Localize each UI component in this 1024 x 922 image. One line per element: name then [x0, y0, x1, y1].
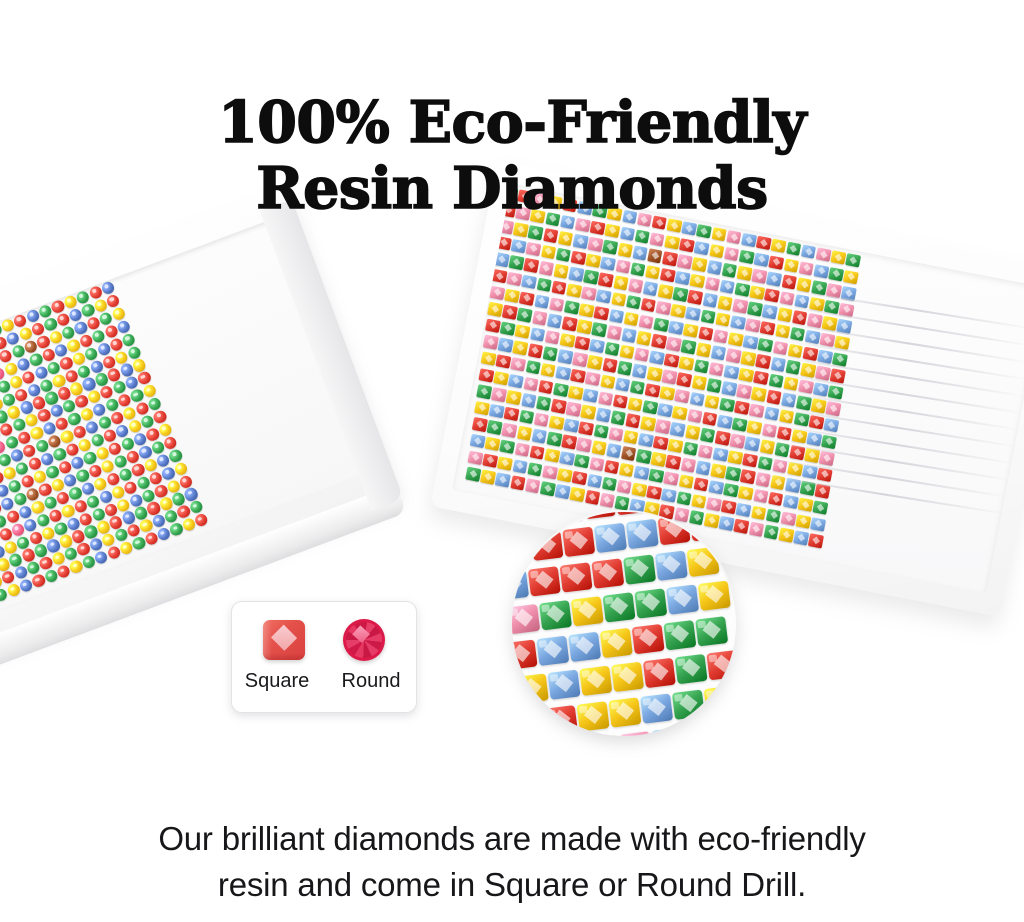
square-drill-bead	[751, 387, 767, 402]
magnified-square-drill	[512, 604, 540, 634]
square-drill-bead	[487, 420, 503, 435]
square-drill-bead	[771, 239, 787, 254]
square-drill-bead	[504, 288, 520, 303]
square-drill-bead	[540, 481, 556, 496]
square-drill-bead	[557, 468, 573, 483]
square-drill-bead	[521, 393, 537, 408]
magnified-square-drill	[634, 588, 667, 618]
square-drill-bead	[730, 434, 746, 449]
square-drill-bead	[589, 457, 605, 472]
square-drill-bead	[485, 318, 501, 333]
legend-label-square: Square	[241, 670, 313, 693]
square-drill-bead	[563, 418, 579, 433]
square-drill-bead	[585, 490, 601, 505]
square-drill-bead	[631, 482, 647, 497]
square-drill-bead	[621, 328, 637, 343]
square-drill-bead	[510, 357, 526, 372]
square-drill-bead	[562, 316, 578, 331]
square-drill-bead	[762, 305, 778, 320]
square-drill-bead	[574, 336, 590, 351]
square-drill-bead	[666, 455, 682, 470]
square-drill-icon	[263, 620, 305, 660]
square-drill-bead	[617, 243, 633, 258]
magnified-square-drill	[519, 512, 552, 527]
square-drill-bead	[741, 351, 757, 366]
square-drill-bead	[645, 265, 661, 280]
square-drill-bead	[715, 431, 731, 446]
square-drill-bead	[677, 254, 693, 269]
tray-groove	[784, 323, 1024, 364]
square-drill-bead	[617, 361, 633, 376]
square-drill-bead	[536, 396, 552, 411]
square-drill-bead	[590, 220, 606, 235]
legend-label-round: Round	[335, 670, 407, 693]
square-drill-bead	[727, 450, 743, 465]
square-drill-bead	[534, 294, 550, 309]
square-drill-bead	[636, 449, 652, 464]
square-drill-bead	[659, 386, 675, 401]
magnified-square-drill	[551, 512, 584, 523]
square-drill-bead	[568, 267, 584, 282]
magnified-square-drill	[583, 512, 616, 519]
square-drill-bead	[615, 259, 631, 274]
square-drill-bead	[642, 400, 658, 415]
square-drill-bead	[745, 318, 761, 333]
square-drill-bead	[568, 385, 584, 400]
square-drill-bead	[506, 390, 522, 405]
square-drill-bead	[672, 405, 688, 420]
square-drill-bead	[570, 250, 586, 265]
tray-groove	[779, 356, 1024, 397]
square-drill-bead	[719, 279, 735, 294]
magnified-square-drill	[640, 693, 673, 723]
square-drill-bead	[625, 413, 641, 428]
square-drill-bead	[541, 245, 557, 260]
square-drill-bead	[591, 322, 607, 337]
square-drill-bead	[636, 331, 652, 346]
square-drill-bead	[489, 404, 505, 419]
square-drill-bead	[723, 483, 739, 498]
square-drill-bead	[512, 459, 528, 474]
square-drill-bead	[513, 222, 529, 237]
magnified-square-drill	[655, 551, 688, 581]
page-title: 100% Eco-Friendly Resin Diamonds	[0, 90, 1024, 222]
square-drill-bead	[499, 440, 515, 455]
square-drill-bead	[526, 242, 542, 257]
square-drill-bead	[502, 423, 518, 438]
square-drill-bead	[641, 298, 657, 313]
magnified-square-drill	[548, 669, 581, 699]
square-drill-bead	[655, 301, 671, 316]
magnified-square-drill	[683, 723, 716, 736]
square-drill-bead	[691, 494, 707, 509]
tray-groove	[773, 390, 1020, 431]
square-drill-bead	[640, 416, 656, 431]
square-drill-bead	[553, 264, 569, 279]
magnified-square-drill	[666, 584, 699, 614]
square-drill-bead	[681, 340, 697, 355]
square-drill-bead	[628, 278, 644, 293]
square-drill-bead	[604, 342, 620, 357]
square-drill-bead	[698, 326, 714, 341]
square-drill-bead	[738, 486, 754, 501]
square-drill-bead	[587, 237, 603, 252]
square-drill-bead	[660, 268, 676, 283]
magnified-square-drill	[706, 650, 736, 680]
square-drill-bead	[591, 440, 607, 455]
square-drill-bead	[614, 496, 630, 511]
square-drill-bead	[572, 471, 588, 486]
square-drill-bead	[482, 453, 498, 468]
square-drill-bead	[476, 384, 492, 399]
square-drill-bead	[734, 401, 750, 416]
square-drill-bead	[521, 275, 537, 290]
square-drill-bead	[801, 244, 817, 259]
square-drill-bead	[498, 338, 514, 353]
square-drill-bead	[786, 242, 802, 257]
square-drill-bead	[600, 375, 616, 390]
tray-groove	[763, 457, 1010, 498]
square-drill-bead	[687, 408, 703, 423]
square-drill-bead	[545, 330, 561, 345]
square-drill-bead	[549, 297, 565, 312]
square-drill-bead	[587, 473, 603, 488]
tray-groove	[765, 440, 1012, 481]
square-drill-bead	[749, 403, 765, 418]
square-drill-bead	[630, 262, 646, 277]
square-drill-bead	[845, 253, 861, 268]
square-drill-bead	[585, 372, 601, 387]
square-drill-bead	[664, 235, 680, 250]
magnified-square-drill	[695, 616, 728, 646]
square-drill-bead	[670, 422, 686, 437]
magnified-square-drill	[615, 512, 648, 515]
square-drill-bead	[666, 337, 682, 352]
square-drill-bead	[551, 280, 567, 295]
square-drill-bead	[619, 344, 635, 359]
square-drill-bead	[730, 315, 746, 330]
square-drill-bead	[513, 341, 529, 356]
square-drill-bead	[627, 397, 643, 412]
magnified-detail-circle	[512, 512, 736, 736]
square-drill-bead	[587, 355, 603, 370]
round-drill-icon	[343, 619, 385, 661]
square-drill-bead	[576, 438, 592, 453]
square-drill-bead	[514, 442, 530, 457]
square-drill-bead	[519, 409, 535, 424]
square-drill-bead	[495, 473, 511, 488]
square-drill-bead	[705, 276, 721, 291]
square-drill-bead	[724, 246, 740, 261]
magnified-square-drill	[588, 735, 621, 736]
square-drill-bead	[736, 502, 752, 517]
square-drill-bead	[536, 278, 552, 293]
square-drill-bead	[632, 246, 648, 261]
magnified-square-drill	[715, 719, 736, 736]
square-drill-bead	[739, 249, 755, 264]
square-drill-bead	[732, 417, 748, 432]
square-drill-bead	[690, 274, 706, 289]
square-drill-bead	[523, 376, 539, 391]
magnified-square-drill	[560, 562, 593, 592]
square-drill-bead	[598, 391, 614, 406]
square-drill-bead	[747, 302, 763, 317]
square-drill-bead	[755, 354, 771, 369]
square-drill-bead	[555, 366, 571, 381]
square-drill-bead	[653, 317, 669, 332]
square-drill-bead	[675, 271, 691, 286]
square-drill-bead	[559, 333, 575, 348]
square-drill-bead	[664, 353, 680, 368]
magnified-square-drill	[571, 596, 604, 626]
square-drill-bead	[465, 467, 481, 482]
tray-groove	[771, 407, 1018, 448]
square-drill-bead	[657, 403, 673, 418]
square-drill-bead	[638, 314, 654, 329]
square-drill-bead	[700, 309, 716, 324]
square-drill-bead	[732, 299, 748, 314]
square-drill-bead	[595, 407, 611, 422]
square-drill-bead	[734, 282, 750, 297]
square-drill-bead	[489, 285, 505, 300]
square-drill-bead	[662, 251, 678, 266]
square-drill-bead	[525, 360, 541, 375]
square-drill-bead	[696, 224, 712, 239]
headline-line-1: 100% Eco-Friendly	[218, 89, 806, 156]
square-drill-bead	[668, 320, 684, 335]
square-drill-bead	[706, 378, 722, 393]
square-drill-bead	[798, 261, 814, 276]
square-drill-bead	[546, 432, 562, 447]
square-drill-bead	[531, 429, 547, 444]
square-drill-bead	[540, 363, 556, 378]
square-drill-bead	[668, 438, 684, 453]
square-drill-bead	[604, 460, 620, 475]
magnified-square-drill	[651, 727, 684, 736]
magnified-square-drill	[687, 547, 720, 577]
square-drill-bead	[745, 436, 761, 451]
square-drill-bead	[740, 469, 756, 484]
magnified-square-drill	[512, 512, 521, 531]
square-drill-bead	[658, 284, 674, 299]
square-drill-bead	[758, 338, 774, 353]
square-drill-bead	[599, 493, 615, 508]
square-drill-bead	[634, 229, 650, 244]
square-drill-bead	[543, 228, 559, 243]
square-drill-bead	[632, 364, 648, 379]
round-drill-bead	[194, 512, 210, 528]
square-drill-bead	[662, 370, 678, 385]
square-drill-bead	[555, 484, 571, 499]
square-drill-bead	[689, 392, 705, 407]
square-drill-bead	[515, 324, 531, 339]
square-drill-bead	[495, 354, 511, 369]
magnified-square-drill	[545, 705, 578, 735]
square-drill-bead	[700, 428, 716, 443]
square-drill-bead	[623, 430, 639, 445]
square-drill-bead	[577, 319, 593, 334]
caption-line-1: Our brilliant diamonds are made with eco…	[158, 820, 865, 857]
square-drill-bead	[719, 398, 735, 413]
square-drill-bead	[608, 427, 624, 442]
square-drill-bead	[695, 461, 711, 476]
square-drill-bead	[647, 367, 663, 382]
tray-groove	[768, 423, 1015, 464]
square-drill-bead	[561, 435, 577, 450]
square-drill-bead	[497, 456, 513, 471]
square-drill-bead	[510, 475, 526, 490]
square-drill-bead	[517, 308, 533, 323]
square-drill-bead	[713, 447, 729, 462]
square-drill-bead	[649, 469, 665, 484]
magnified-square-drill	[626, 519, 659, 549]
square-drill-bead	[609, 309, 625, 324]
magnified-square-drill	[672, 689, 705, 719]
square-drill-bead	[596, 289, 612, 304]
square-drill-bead	[602, 358, 618, 373]
square-drill-bead	[679, 356, 695, 371]
square-drill-bead	[673, 287, 689, 302]
square-drill-bead	[619, 463, 635, 478]
square-drill-bead	[626, 295, 642, 310]
square-drill-bead	[741, 233, 757, 248]
square-drill-bead	[555, 248, 571, 263]
square-drill-bead	[547, 313, 563, 328]
square-drill-bead	[726, 348, 742, 363]
magnified-square-drill	[600, 628, 633, 658]
square-drill-bead	[620, 226, 636, 241]
square-drill-bead	[728, 332, 744, 347]
square-drill-bead	[708, 480, 724, 495]
square-drill-bead	[474, 401, 490, 416]
square-drill-bead	[638, 433, 654, 448]
square-drill-bead	[602, 240, 618, 255]
square-drill-bead	[496, 236, 512, 251]
square-drill-bead	[483, 335, 499, 350]
square-drill-bead	[677, 373, 693, 388]
magnified-square-drill	[530, 531, 563, 561]
magnified-square-drill	[620, 731, 653, 736]
square-drill-bead	[621, 446, 637, 461]
square-drill-bead	[676, 491, 692, 506]
square-drill-bead	[709, 362, 725, 377]
square-drill-bead	[553, 382, 569, 397]
square-drill-bead	[532, 311, 548, 326]
square-drill-bead	[725, 467, 741, 482]
square-drill-bead	[717, 296, 733, 311]
square-drill-bead	[726, 230, 742, 245]
square-drill-bead	[756, 236, 772, 251]
square-drill-bead	[696, 342, 712, 357]
square-drill-bead	[523, 258, 539, 273]
square-drill-bead	[711, 345, 727, 360]
magnified-square-drill	[528, 566, 561, 596]
square-drill-bead	[751, 269, 767, 284]
square-drill-bead	[585, 253, 601, 268]
square-drill-bead	[685, 307, 701, 322]
square-drill-bead	[572, 352, 588, 367]
square-drill-bead	[723, 365, 739, 380]
square-drill-bead	[606, 325, 622, 340]
square-drill-bead	[491, 387, 507, 402]
square-drill-bead	[566, 402, 582, 417]
square-drill-bead	[494, 252, 510, 267]
square-drill-bead	[504, 407, 520, 422]
square-drill-bead	[534, 412, 550, 427]
square-drill-bead	[678, 474, 694, 489]
magnified-square-drill	[675, 654, 708, 684]
magnified-square-drill	[512, 639, 538, 669]
square-drill-bead	[645, 383, 661, 398]
square-drill-bead	[506, 272, 522, 287]
square-drill-bead	[717, 414, 733, 429]
legend-swatches	[232, 616, 416, 664]
square-drill-bead	[606, 443, 622, 458]
tray-groove	[781, 339, 1024, 380]
square-drill-bead	[574, 454, 590, 469]
legend-labels: Square Round	[232, 670, 416, 693]
magnified-square-drill	[539, 600, 572, 630]
square-drill-bead	[661, 488, 677, 503]
square-drill-bead	[610, 410, 626, 425]
square-drill-bead	[647, 248, 663, 263]
square-drill-bead	[721, 381, 737, 396]
square-drill-bead	[830, 250, 846, 265]
square-drill-bead	[594, 306, 610, 321]
square-drill-bead	[583, 388, 599, 403]
square-drill-bead	[693, 477, 709, 492]
square-drill-bead	[570, 369, 586, 384]
square-drill-bead	[653, 436, 669, 451]
square-drill-bead	[769, 255, 785, 270]
square-drill-bead	[542, 346, 558, 361]
square-drill-bead	[617, 479, 633, 494]
headline-line-2: Resin Diamonds	[0, 156, 1024, 222]
magnified-square-drill	[611, 662, 644, 692]
square-drill-bead	[683, 323, 699, 338]
square-drill-bead	[815, 247, 831, 262]
square-drill-bead	[559, 451, 575, 466]
magnified-square-drill	[632, 624, 665, 654]
magnified-square-drill	[689, 512, 722, 541]
square-drill-bead	[843, 270, 859, 285]
square-drill-bead	[478, 368, 494, 383]
square-drill-bead	[558, 231, 574, 246]
square-drill-bead	[706, 497, 722, 512]
tray-groove	[760, 474, 1007, 515]
poster-canvas: 100% Eco-Friendly Resin Diamonds Square …	[0, 0, 1024, 922]
square-drill-bead	[704, 395, 720, 410]
square-drill-bead	[589, 339, 605, 354]
square-drill-bead	[508, 374, 524, 389]
square-drill-bead	[470, 434, 486, 449]
square-drill-bead	[681, 221, 697, 236]
square-drill-bead	[694, 241, 710, 256]
square-drill-bead	[530, 327, 546, 342]
caption-text: Our brilliant diamonds are made with eco…	[0, 816, 1024, 908]
square-drill-bead	[713, 329, 729, 344]
square-drill-bead	[549, 415, 565, 430]
square-drill-bead	[544, 448, 560, 463]
square-drill-bead	[702, 293, 718, 308]
square-drill-bead	[691, 375, 707, 390]
square-drill-bead	[493, 371, 509, 386]
magnified-square-drill	[579, 666, 612, 696]
square-drill-bead	[702, 411, 718, 426]
magnified-square-drill	[512, 534, 532, 564]
square-drill-bead	[651, 334, 667, 349]
tray-groove	[776, 373, 1023, 414]
